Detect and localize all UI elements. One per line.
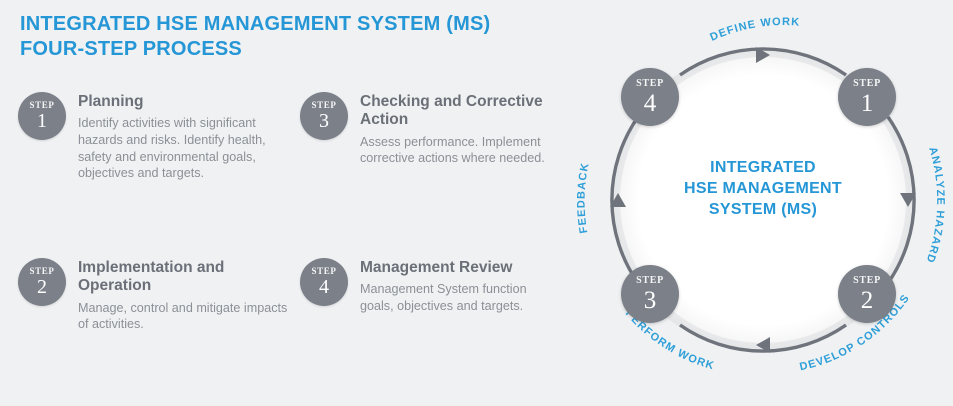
cycle-center-title-line-3: SYSTEM (MS) bbox=[633, 200, 893, 221]
step-badge-number: 2 bbox=[37, 277, 47, 297]
page-title: INTEGRATED HSE MANAGEMENT SYSTEM (MS) FO… bbox=[20, 12, 580, 62]
ring-badge-number: 1 bbox=[861, 91, 874, 116]
step-card-1: STEP 1 Planning Identify activities with… bbox=[18, 92, 288, 182]
outer-label-define-work-text: DEFINE WORK bbox=[708, 16, 800, 44]
step-card-title: Checking and Corrective Action bbox=[360, 93, 550, 130]
outer-label-feedback-text: FEEDBACK bbox=[576, 161, 592, 234]
page-title-line-2: FOUR-STEP PROCESS bbox=[20, 37, 580, 62]
step-card-2: STEP 2 Implementation and Operation Mana… bbox=[18, 258, 288, 333]
step-card-body: Management Review Management System func… bbox=[360, 258, 550, 315]
step-card-body: Checking and Corrective Action Assess pe… bbox=[360, 92, 550, 167]
step-badge-2: STEP 2 bbox=[18, 258, 66, 306]
cycle-center-title: INTEGRATED HSE MANAGEMENT SYSTEM (MS) bbox=[633, 158, 893, 220]
ring-step-badge-1: STEP 1 bbox=[838, 68, 896, 126]
cycle-diagram: DEFINE WORK ANALYZE HAZARD DEVELOP CONTR… bbox=[555, 0, 953, 406]
ring-badge-number: 4 bbox=[644, 91, 657, 116]
step-badge-label: STEP bbox=[312, 267, 337, 276]
step-card-description: Assess performance. Implement corrective… bbox=[360, 134, 550, 167]
step-card-title: Implementation and Operation bbox=[78, 259, 288, 296]
ring-badge-label: STEP bbox=[636, 276, 664, 286]
outer-label-define-work: DEFINE WORK bbox=[708, 16, 800, 44]
step-card-3: STEP 3 Checking and Corrective Action As… bbox=[300, 92, 550, 167]
step-badge-label: STEP bbox=[30, 101, 55, 110]
step-card-title: Management Review bbox=[360, 259, 550, 277]
cycle-center-title-line-1: INTEGRATED bbox=[633, 158, 893, 179]
step-card-description: Identify activities with significant haz… bbox=[78, 115, 288, 182]
outer-label-feedback: FEEDBACK bbox=[576, 161, 592, 234]
step-badge-number: 4 bbox=[319, 277, 329, 297]
cycle-center-title-line-2: HSE MANAGEMENT bbox=[633, 179, 893, 200]
step-card-title: Planning bbox=[78, 93, 288, 111]
step-card-body: Implementation and Operation Manage, con… bbox=[78, 258, 288, 333]
ring-step-badge-4: STEP 4 bbox=[621, 68, 679, 126]
step-badge-1: STEP 1 bbox=[18, 92, 66, 140]
ring-badge-label: STEP bbox=[636, 79, 664, 89]
step-card-description: Management System function goals, object… bbox=[360, 281, 550, 314]
ring-badge-label: STEP bbox=[853, 79, 881, 89]
ring-badge-number: 2 bbox=[861, 288, 874, 313]
step-badge-number: 3 bbox=[319, 111, 329, 131]
step-badge-4: STEP 4 bbox=[300, 258, 348, 306]
step-card-description: Manage, control and mitigate impacts of … bbox=[78, 300, 288, 333]
step-badge-label: STEP bbox=[312, 101, 337, 110]
outer-label-analyze-hazard-text: ANALYZE HAZARD bbox=[923, 146, 946, 265]
ring-badge-label: STEP bbox=[853, 276, 881, 286]
step-badge-number: 1 bbox=[37, 111, 47, 131]
ring-badge-number: 3 bbox=[644, 288, 657, 313]
step-badge-label: STEP bbox=[30, 267, 55, 276]
page-title-line-1: INTEGRATED HSE MANAGEMENT SYSTEM (MS) bbox=[20, 12, 580, 37]
step-card-body: Planning Identify activities with signif… bbox=[78, 92, 288, 182]
outer-label-analyze-hazard: ANALYZE HAZARD bbox=[923, 146, 946, 265]
step-card-4: STEP 4 Management Review Management Syst… bbox=[300, 258, 550, 315]
ring-step-badge-3: STEP 3 bbox=[621, 265, 679, 323]
ring-step-badge-2: STEP 2 bbox=[838, 265, 896, 323]
step-badge-3: STEP 3 bbox=[300, 92, 348, 140]
